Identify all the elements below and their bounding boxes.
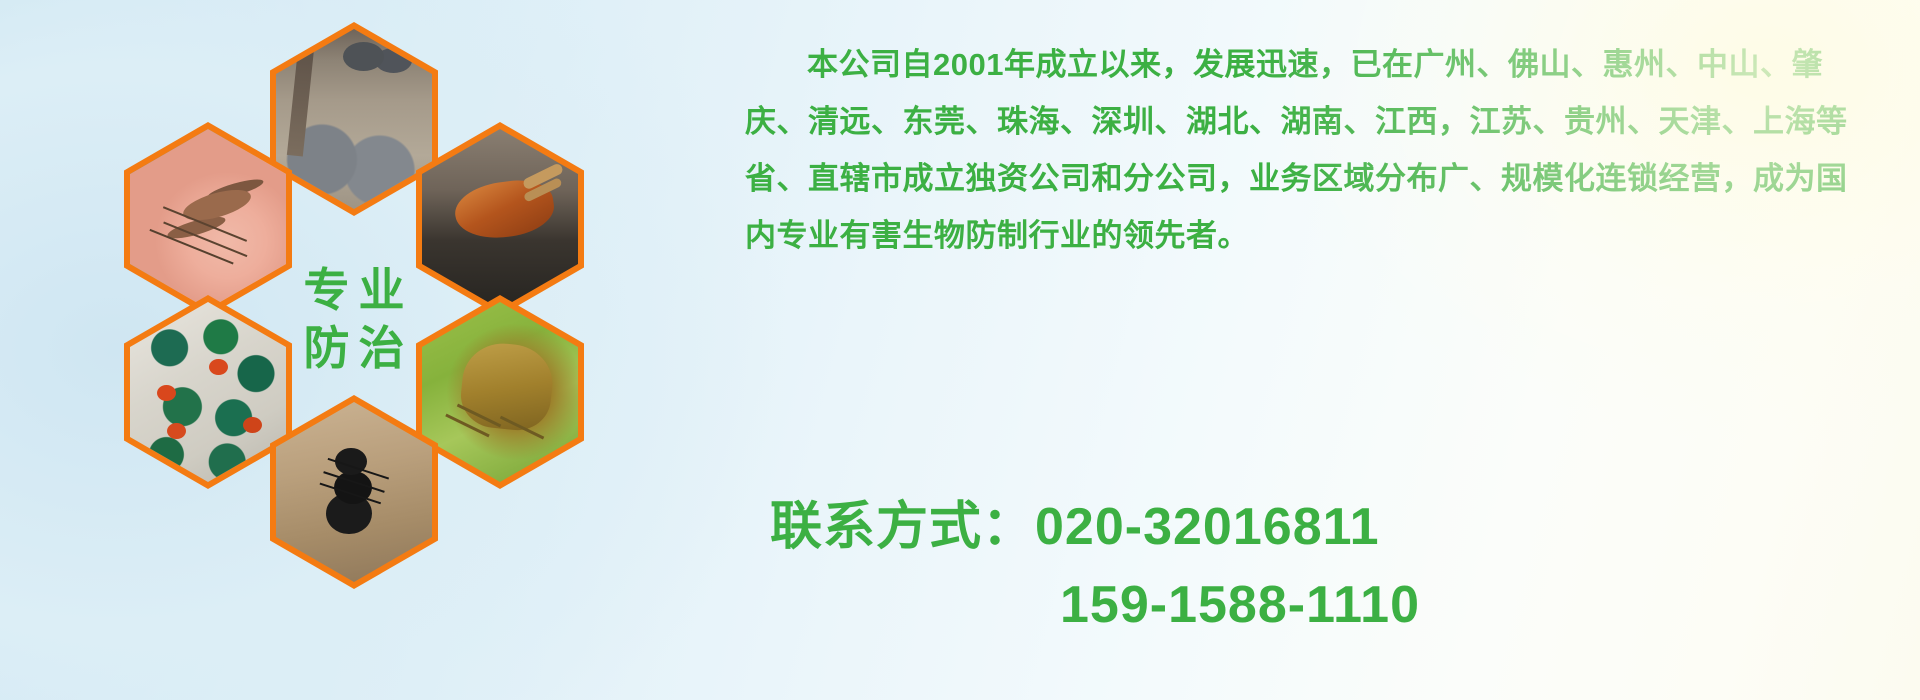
hex-tile-cockroach-inner xyxy=(422,129,578,309)
hex-center-inner: 专业 防治 xyxy=(276,229,432,409)
hex-tile-center-label: 专业 防治 xyxy=(270,222,438,416)
hex-label-line1: 专业 xyxy=(295,266,414,314)
hex-tile-ant-inner xyxy=(276,402,432,582)
contact-phone-mobile[interactable]: 159-1588-1110 xyxy=(1060,576,1420,634)
promo-banner: 专业 防治 本公司自2001年成立以来，发展迅速，已在广州、佛山、惠州、中山、肇… xyxy=(0,0,1920,700)
contact-landline-line: 联系方式：020-32016811 xyxy=(770,488,1890,566)
hex-tile-rats[interactable] xyxy=(270,22,438,216)
contact-phone-landline[interactable]: 020-32016811 xyxy=(1035,498,1380,556)
hex-tile-stinkbug-inner xyxy=(422,302,578,482)
hex-tile-stinkbug[interactable] xyxy=(416,295,584,489)
company-intro-block: 本公司自2001年成立以来，发展迅速，已在广州、佛山、惠州、中山、肇庆、清远、东… xyxy=(745,36,1870,264)
company-intro-paragraph: 本公司自2001年成立以来，发展迅速，已在广州、佛山、惠州、中山、肇庆、清远、东… xyxy=(745,36,1870,264)
hex-tile-flies-inner xyxy=(130,302,286,482)
mosquito-photo xyxy=(130,129,286,309)
contact-block: 联系方式：020-32016811 159-1588-1110 xyxy=(770,488,1890,644)
hex-tile-mosquito-inner xyxy=(130,129,286,309)
stinkbug-photo xyxy=(422,302,578,482)
hex-tile-cockroach[interactable] xyxy=(416,122,584,316)
hex-tile-flies[interactable] xyxy=(124,295,292,489)
contact-label: 联系方式： xyxy=(770,498,1035,556)
hex-tile-mosquito[interactable] xyxy=(124,122,292,316)
flies-photo xyxy=(130,302,286,482)
hex-tile-ant[interactable] xyxy=(270,395,438,589)
rats-photo xyxy=(276,29,432,209)
hex-tile-rats-inner xyxy=(276,29,432,209)
ant-photo xyxy=(276,402,432,582)
hex-label-line2: 防治 xyxy=(295,324,414,372)
hex-photo-cluster: 专业 防治 xyxy=(92,8,592,568)
contact-mobile-line: 159-1588-1110 xyxy=(770,566,1890,644)
cockroach-photo xyxy=(422,129,578,309)
